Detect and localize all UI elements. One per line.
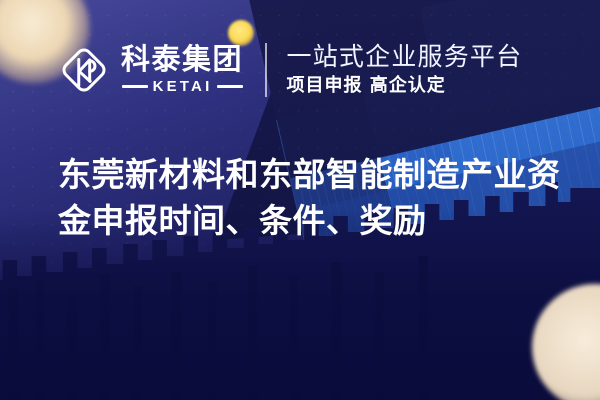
tagline-block: 一站式企业服务平台 项目申报 高企认定 bbox=[287, 43, 523, 97]
brand-wordmark: 科泰集团 KETAI bbox=[121, 45, 243, 95]
brand-name-en-row: KETAI bbox=[121, 78, 243, 95]
headline-block: 东莞新材料和东部智能制造产业资 金申报时间、条件、奖励 bbox=[58, 152, 558, 244]
promo-banner: 科泰集团 KETAI 一站式企业服务平台 项目申报 高企认定 东莞新材料和东部智… bbox=[0, 0, 600, 400]
dash-right-icon bbox=[217, 85, 243, 88]
banner-header: 科泰集团 KETAI 一站式企业服务平台 项目申报 高企认定 bbox=[56, 42, 522, 98]
brand-logo[interactable]: 科泰集团 KETAI bbox=[56, 42, 243, 98]
dash-left-icon bbox=[122, 85, 148, 88]
ketai-diamond-kp-monogram-icon bbox=[56, 42, 112, 98]
brand-name-cn: 科泰集团 bbox=[121, 45, 243, 75]
header-divider bbox=[265, 43, 267, 97]
headline-line-1: 东莞新材料和东部智能制造产业资 bbox=[58, 152, 558, 198]
headline-line-2: 金申报时间、条件、奖励 bbox=[58, 198, 558, 244]
tagline-sub: 项目申报 高企认定 bbox=[287, 75, 523, 97]
tagline-main: 一站式企业服务平台 bbox=[287, 43, 523, 71]
brand-name-en: KETAI bbox=[153, 78, 213, 95]
